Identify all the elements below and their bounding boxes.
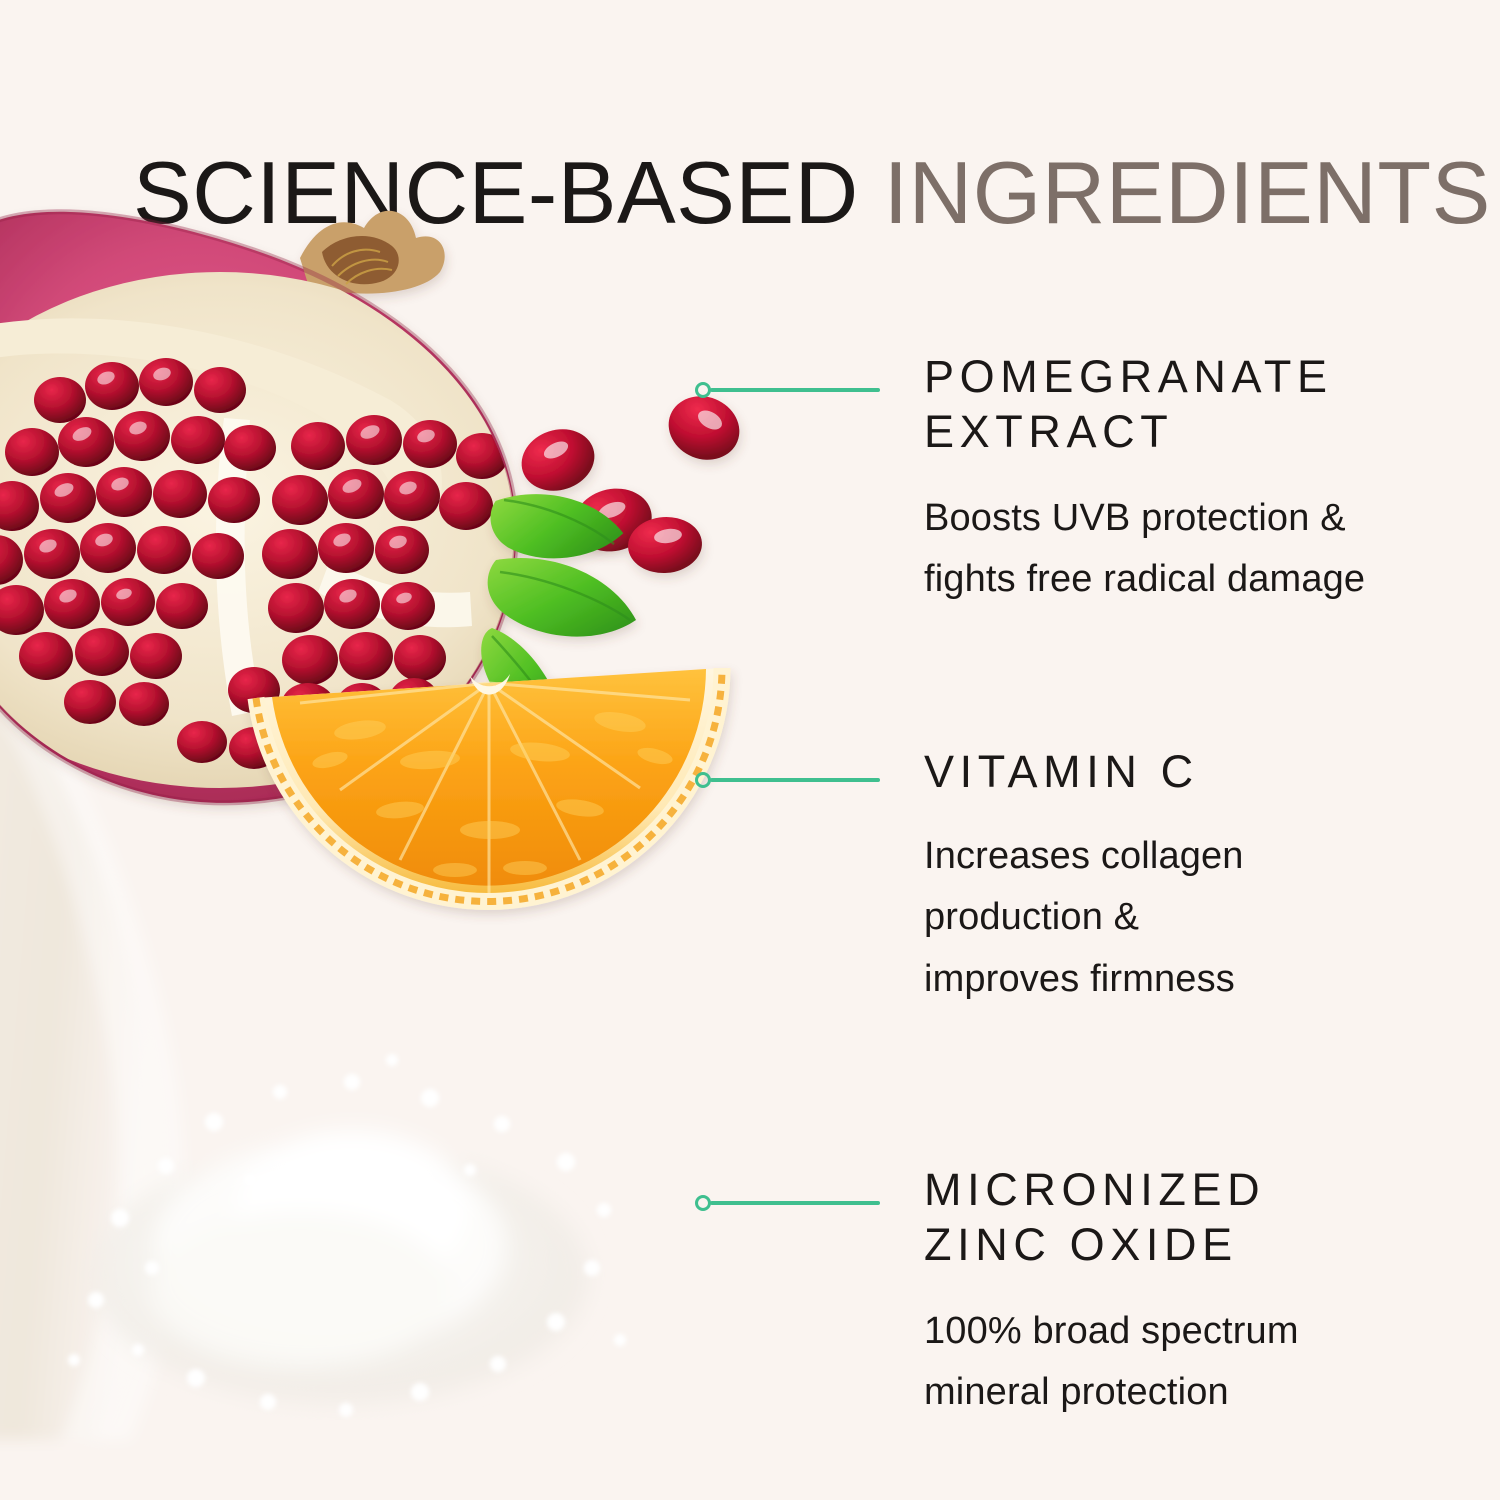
- ingredient-description: Boosts UVB protection & fights free radi…: [924, 488, 1444, 611]
- ingredient-imagery: [0, 0, 760, 1500]
- ingredient-heading: VITAMIN C: [924, 745, 1444, 800]
- callout-connector-zinc-oxide: [695, 1188, 885, 1218]
- ingredient-block-zinc-oxide: MICRONIZED ZINC OXIDE 100% broad spectru…: [924, 1163, 1444, 1424]
- ingredient-description: 100% broad spectrum mineral protection: [924, 1301, 1444, 1424]
- ingredient-block-vitamin-c: VITAMIN C Increases collagen production …: [924, 745, 1444, 1011]
- callout-dot-icon: [695, 1195, 711, 1211]
- callout-dot-icon: [695, 382, 711, 398]
- callout-line: [710, 1201, 880, 1205]
- page-title-secondary: INGREDIENTS: [884, 143, 1491, 242]
- callout-connector-vitamin-c: [695, 765, 885, 795]
- ingredient-heading: POMEGRANATE EXTRACT: [924, 350, 1444, 460]
- ingredient-heading: MICRONIZED ZINC OXIDE: [924, 1163, 1444, 1273]
- ingredient-block-pomegranate: POMEGRANATE EXTRACT Boosts UVB protectio…: [924, 350, 1444, 611]
- orange-slice-photo: [256, 668, 722, 901]
- callout-connector-pomegranate: [695, 375, 885, 405]
- ingredient-description: Increases collagen production & improves…: [924, 826, 1444, 1011]
- ingredients-infographic: SCIENCE-BASED INGREDIENTS: [0, 0, 1500, 1500]
- callout-line: [710, 778, 880, 782]
- callout-line: [710, 388, 880, 392]
- callout-dot-icon: [695, 772, 711, 788]
